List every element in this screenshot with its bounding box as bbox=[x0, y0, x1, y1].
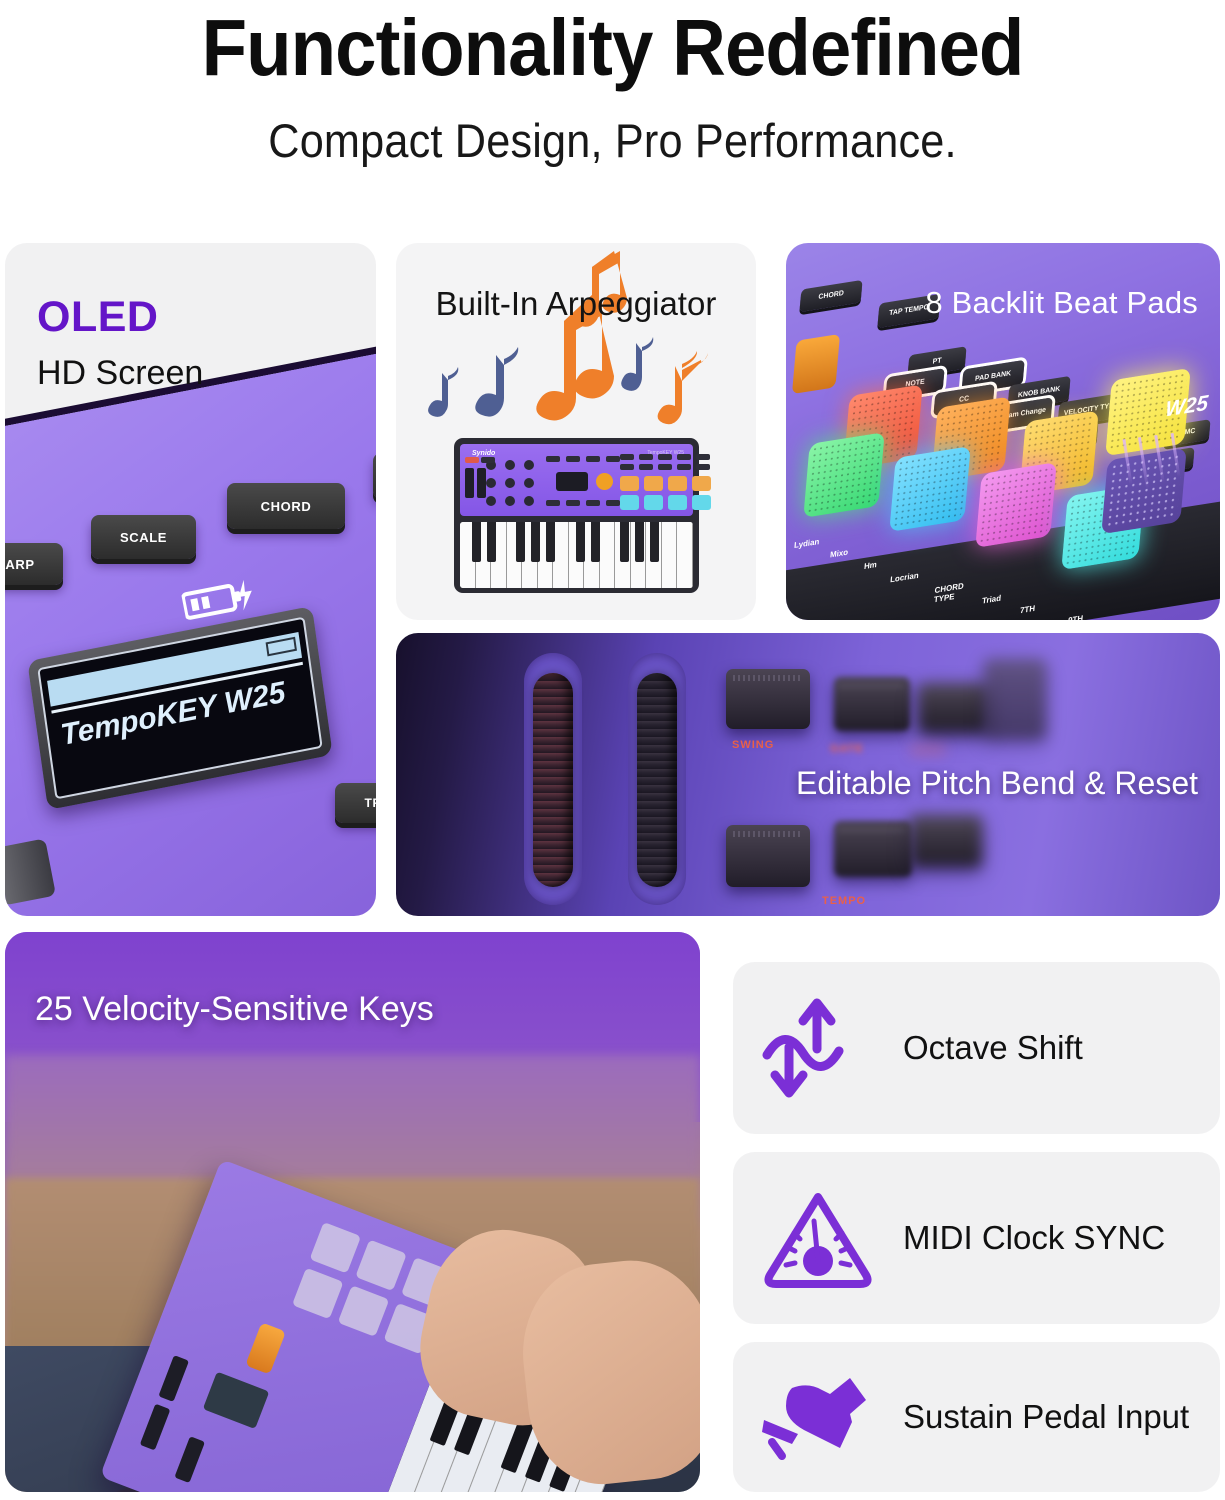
card-beat-pads: CHORD TAP TEMPO PT NOTE PAD BANK CC KNOB… bbox=[786, 243, 1220, 620]
note-sixteenth-icon bbox=[658, 351, 708, 424]
white-key[interactable] bbox=[553, 522, 569, 588]
oled-title: OLED bbox=[37, 293, 203, 342]
knob[interactable] bbox=[486, 478, 496, 488]
pitch-bend-title: Editable Pitch Bend & Reset bbox=[796, 765, 1198, 802]
device-button-chord[interactable]: CHORD bbox=[227, 483, 345, 529]
keyboard-display bbox=[556, 472, 588, 491]
knob-label-rate: RATE bbox=[912, 745, 945, 757]
knob-extra[interactable] bbox=[984, 659, 1046, 739]
device-button-arp[interactable]: ARP bbox=[5, 543, 63, 585]
white-key[interactable] bbox=[677, 522, 693, 588]
velocity-keys-title: 25 Velocity-Sensitive Keys bbox=[35, 990, 434, 1029]
knob-row-3[interactable] bbox=[486, 496, 534, 506]
white-key[interactable] bbox=[662, 522, 678, 588]
knob-row-2[interactable] bbox=[486, 478, 534, 488]
button-row-bottom[interactable] bbox=[546, 500, 620, 506]
feature-label-octave-shift: Octave Shift bbox=[903, 1029, 1083, 1067]
small-button[interactable] bbox=[696, 464, 710, 470]
small-button[interactable] bbox=[639, 454, 653, 460]
black-key[interactable] bbox=[516, 522, 525, 562]
small-button[interactable] bbox=[677, 464, 691, 470]
small-button[interactable] bbox=[481, 457, 495, 463]
small-button[interactable] bbox=[620, 454, 634, 460]
knob[interactable] bbox=[505, 460, 515, 470]
modulation-wheel[interactable] bbox=[637, 673, 677, 887]
small-button[interactable] bbox=[696, 454, 710, 460]
pad[interactable] bbox=[644, 476, 663, 491]
knob[interactable] bbox=[505, 478, 515, 488]
knob-lower-3[interactable] bbox=[910, 815, 982, 867]
feature-label-midi-clock-sync: MIDI Clock SYNC bbox=[903, 1219, 1165, 1257]
beat-pad-7[interactable] bbox=[975, 462, 1057, 548]
white-key[interactable] bbox=[600, 522, 616, 588]
knob-label-tempo: TEMPO bbox=[822, 895, 866, 907]
tempo-knob-orange[interactable] bbox=[792, 334, 840, 394]
keyboard-keys[interactable] bbox=[460, 522, 693, 588]
feature-label-sustain-pedal: Sustain Pedal Input bbox=[903, 1398, 1189, 1436]
black-key[interactable] bbox=[546, 522, 555, 562]
keyboard-illustration: Synido TempoKEY W25 bbox=[454, 438, 699, 593]
knob[interactable] bbox=[524, 460, 534, 470]
pad[interactable] bbox=[620, 476, 639, 491]
small-button[interactable] bbox=[546, 500, 560, 506]
black-key[interactable] bbox=[472, 522, 481, 562]
knob-gate[interactable] bbox=[834, 677, 910, 731]
small-button[interactable] bbox=[606, 500, 620, 506]
note-eighth-icon bbox=[428, 367, 458, 417]
pad[interactable] bbox=[668, 495, 687, 510]
card-velocity-keys: 25 Velocity-Sensitive Keys bbox=[5, 932, 700, 1492]
fader-pitch[interactable] bbox=[465, 468, 474, 498]
knob[interactable] bbox=[486, 496, 496, 506]
arpeggiator-title: Built-In Arpeggiator bbox=[396, 285, 756, 323]
knob-lower-2[interactable] bbox=[834, 821, 912, 877]
pad-row-orange[interactable] bbox=[620, 476, 711, 491]
small-button[interactable] bbox=[677, 454, 691, 460]
fader-mod[interactable] bbox=[477, 468, 486, 498]
knob[interactable] bbox=[505, 496, 515, 506]
feature-card-grid: ARP SCALE CHORD T TRANSP TempoKEY W25 bbox=[0, 0, 1225, 1500]
pad[interactable] bbox=[692, 495, 711, 510]
beat-pads-title: 8 Backlit Beat Pads bbox=[925, 285, 1198, 321]
black-key[interactable] bbox=[620, 522, 629, 562]
beat-pad-6[interactable] bbox=[889, 446, 971, 532]
black-key[interactable] bbox=[531, 522, 540, 562]
keyboard-control-panel: Synido TempoKEY W25 bbox=[460, 444, 693, 516]
knob-label-swing: SWING bbox=[732, 739, 774, 751]
small-button[interactable] bbox=[658, 464, 672, 470]
card-oled-screen: ARP SCALE CHORD T TRANSP TempoKEY W25 bbox=[5, 243, 376, 916]
feature-card-midi-clock-sync: MIDI Clock SYNC bbox=[733, 1152, 1220, 1324]
note-eighth-right-icon bbox=[621, 337, 653, 391]
small-button[interactable] bbox=[606, 456, 620, 462]
small-button-red[interactable] bbox=[465, 457, 479, 463]
pitch-bend-wheel[interactable] bbox=[533, 673, 573, 887]
mod-wheel-slot bbox=[628, 653, 686, 905]
button-row-right-1[interactable] bbox=[620, 454, 710, 460]
oled-subtitle: HD Screen bbox=[37, 354, 203, 393]
small-button[interactable] bbox=[639, 464, 653, 470]
device-button-t[interactable]: T bbox=[373, 453, 376, 499]
device-brand-label: Synido bbox=[472, 450, 495, 457]
encoder-knob-orange[interactable] bbox=[596, 473, 613, 490]
midi-clock-sync-icon bbox=[733, 1187, 903, 1289]
black-key[interactable] bbox=[650, 522, 659, 562]
pad-row-cyan[interactable] bbox=[620, 495, 711, 510]
card-pitch-bend: SWING GATE RATE TEMPO Editable Pitch Ben… bbox=[396, 633, 1220, 916]
small-button[interactable] bbox=[566, 500, 580, 506]
knob-tempo[interactable] bbox=[726, 825, 810, 887]
small-button[interactable] bbox=[658, 454, 672, 460]
knob-swing[interactable] bbox=[726, 669, 810, 729]
card-arpeggiator: Built-In Arpeggiator Synido TempoKEY W25 bbox=[396, 243, 756, 620]
pad[interactable] bbox=[668, 476, 687, 491]
octave-shift-icon bbox=[733, 997, 903, 1099]
black-key[interactable] bbox=[591, 522, 600, 562]
feature-card-octave-shift: Octave Shift bbox=[733, 962, 1220, 1134]
sustain-pedal-icon bbox=[733, 1370, 903, 1464]
button-row-top[interactable] bbox=[546, 456, 620, 462]
pad[interactable] bbox=[692, 476, 711, 491]
black-key[interactable] bbox=[487, 522, 496, 562]
pad[interactable] bbox=[644, 495, 663, 510]
knob[interactable] bbox=[524, 478, 534, 488]
device-button-transpose[interactable]: TRANSP bbox=[335, 783, 376, 823]
black-key[interactable] bbox=[576, 522, 585, 562]
small-button[interactable] bbox=[566, 456, 580, 462]
knob-label-gate: GATE bbox=[830, 743, 864, 755]
small-button[interactable] bbox=[586, 456, 600, 462]
beat-pad-5[interactable] bbox=[803, 432, 885, 518]
pad-button-chord[interactable]: CHORD bbox=[799, 280, 862, 312]
pad[interactable] bbox=[620, 495, 639, 510]
small-button[interactable] bbox=[586, 500, 600, 506]
note-single-icon bbox=[475, 347, 518, 417]
device-button-scale[interactable]: SCALE bbox=[91, 515, 196, 559]
black-key[interactable] bbox=[635, 522, 644, 562]
knob-rate[interactable] bbox=[918, 683, 988, 733]
small-button[interactable] bbox=[620, 464, 634, 470]
strip-label-lydian: Lydian bbox=[794, 537, 820, 550]
button-row-right-2[interactable] bbox=[620, 464, 710, 470]
small-button[interactable] bbox=[546, 456, 560, 462]
feature-card-sustain-pedal: Sustain Pedal Input bbox=[733, 1342, 1220, 1492]
pitch-wheel-slot bbox=[524, 653, 582, 905]
strip-label-mixo: Mixo bbox=[830, 547, 849, 559]
infographic-page: Functionality Redefined Compact Design, … bbox=[0, 0, 1225, 1500]
oled-text-block: OLED HD Screen bbox=[37, 293, 203, 393]
knob[interactable] bbox=[524, 496, 534, 506]
